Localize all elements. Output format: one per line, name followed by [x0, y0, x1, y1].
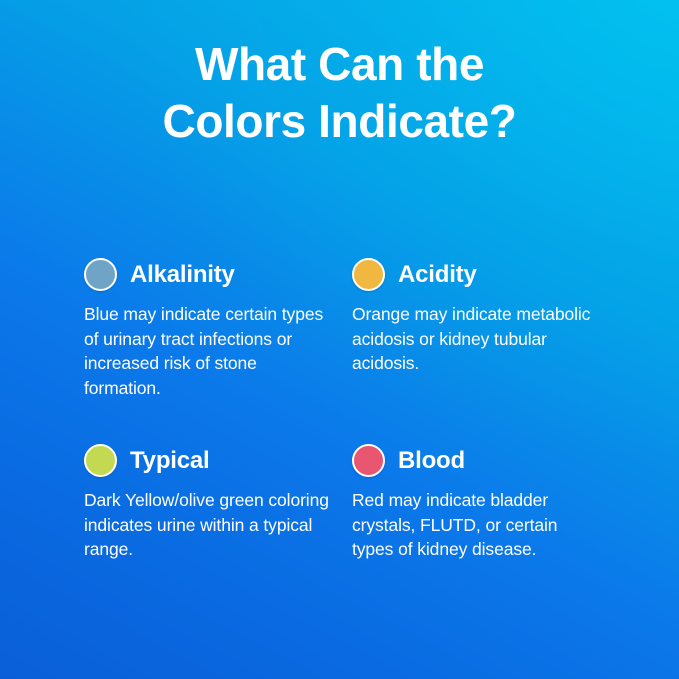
- swatch-circle-orange: [352, 258, 385, 291]
- color-item-description: Red may indicate bladder crystals, FLUTD…: [352, 488, 598, 562]
- swatch-circle-green: [84, 444, 117, 477]
- color-item-header: Blood: [352, 444, 604, 477]
- color-item-label: Blood: [398, 447, 465, 475]
- color-item-label: Acidity: [398, 261, 477, 289]
- color-item-label: Alkalinity: [130, 261, 235, 289]
- swatch-circle-red: [352, 444, 385, 477]
- infographic-card: What Can the Colors Indicate? Alkalinity…: [0, 0, 679, 679]
- color-item-alkalinity: Alkalinity Blue may indicate certain typ…: [84, 258, 336, 400]
- color-item-description: Orange may indicate metabolic acidosis o…: [352, 302, 598, 376]
- color-item-acidity: Acidity Orange may indicate metabolic ac…: [352, 258, 604, 400]
- color-item-label: Typical: [130, 447, 210, 475]
- color-item-header: Alkalinity: [84, 258, 336, 291]
- color-item-description: Blue may indicate certain types of urina…: [84, 302, 330, 400]
- color-item-typical: Typical Dark Yellow/olive green coloring…: [84, 444, 336, 562]
- page-title-line-2: Colors Indicate?: [0, 93, 679, 150]
- color-item-header: Acidity: [352, 258, 604, 291]
- color-item-header: Typical: [84, 444, 336, 477]
- color-item-blood: Blood Red may indicate bladder crystals,…: [352, 444, 604, 562]
- color-indicator-grid: Alkalinity Blue may indicate certain typ…: [0, 150, 679, 562]
- page-title: What Can the Colors Indicate?: [0, 0, 679, 150]
- swatch-circle-blue: [84, 258, 117, 291]
- page-title-line-1: What Can the: [0, 36, 679, 93]
- color-item-description: Dark Yellow/olive green coloring indicat…: [84, 488, 330, 562]
